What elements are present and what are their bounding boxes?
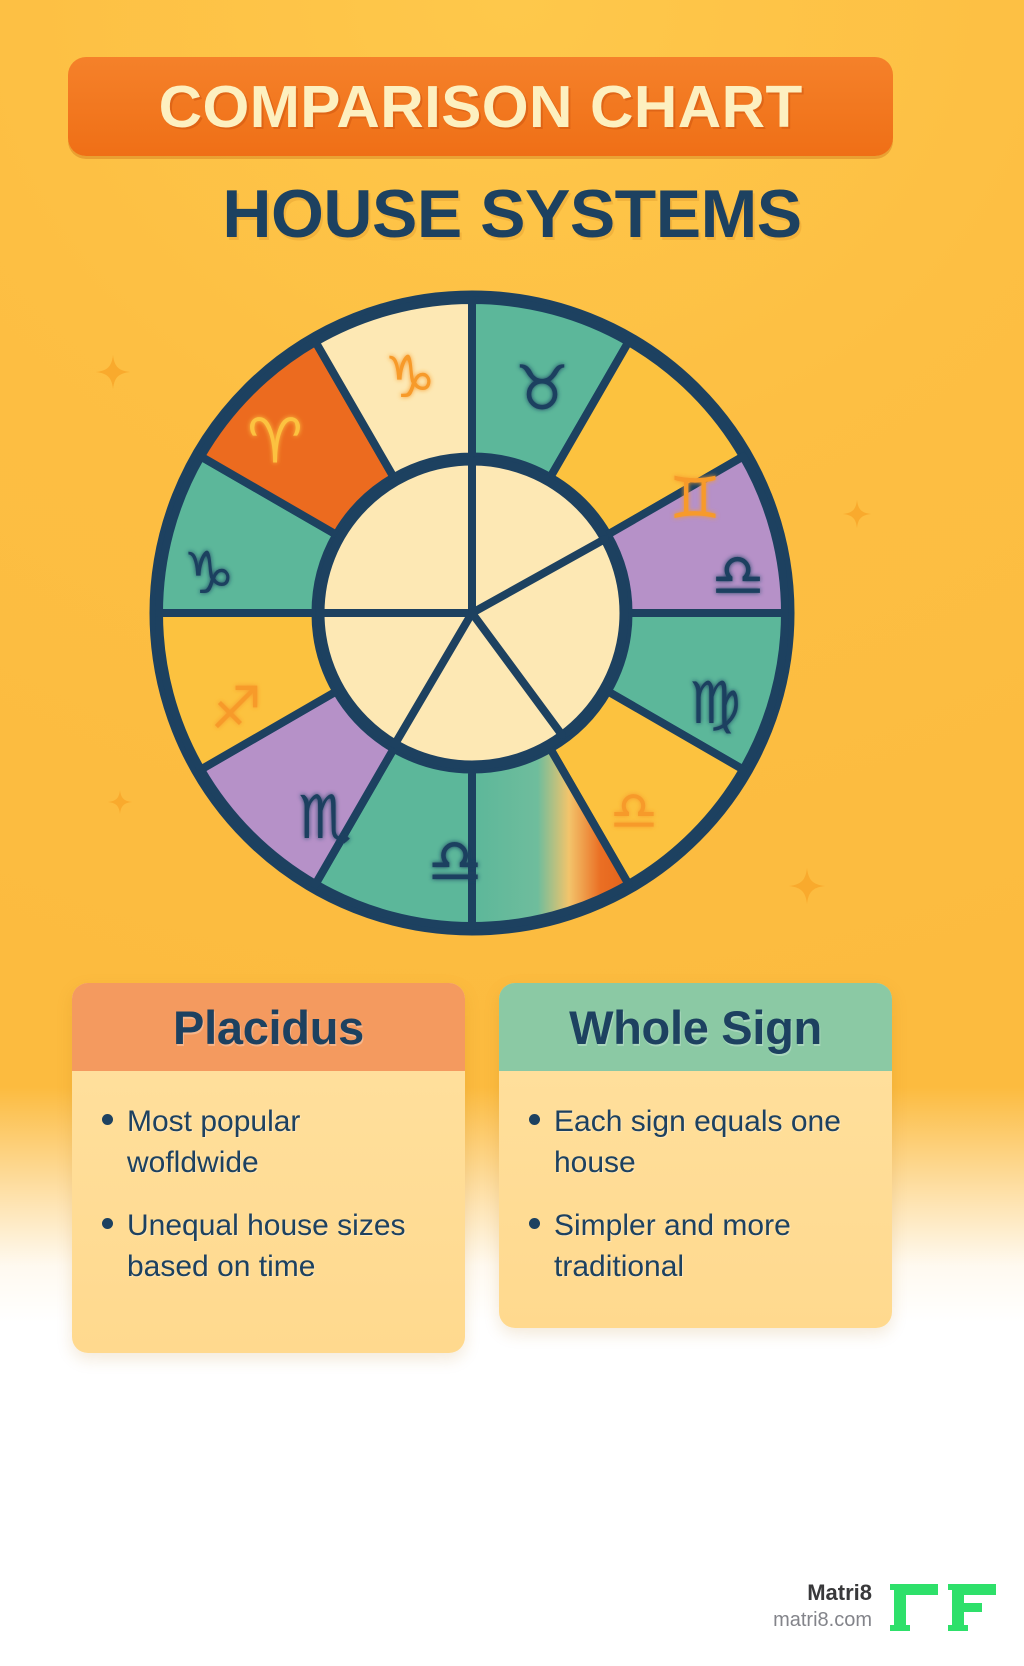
glyph-gemini: ♊ xyxy=(669,464,721,532)
bullet-dot-icon xyxy=(529,1218,540,1229)
list-item: Unequal house sizes based on time xyxy=(102,1205,439,1287)
card-whole-sign-bullet-2: Simpler and more traditional xyxy=(554,1205,866,1287)
sparkle-left-upper-icon xyxy=(96,355,130,389)
footer-branding: Matri8 matri8.com xyxy=(773,1576,1006,1638)
card-whole-sign: Whole Sign Each sign equals one house Si… xyxy=(499,983,892,1328)
card-placidus-bullet-2: Unequal house sizes based on time xyxy=(127,1205,439,1287)
card-placidus-bullet-1: Most popular wofldwide xyxy=(127,1101,439,1183)
list-item: Each sign equals one house xyxy=(529,1101,866,1183)
bullet-dot-icon xyxy=(102,1218,113,1229)
ribbon-label: COMPARISON CHART xyxy=(158,73,802,141)
glyph-libra-gradient: ♎ xyxy=(427,825,483,898)
glyph-capricorn-cream: ♑ xyxy=(384,343,436,411)
comparison-chart-ribbon: COMPARISON CHART xyxy=(68,57,893,156)
card-placidus-body: Most popular wofldwide Unequal house siz… xyxy=(72,1071,465,1319)
card-placidus-header: Placidus xyxy=(72,983,465,1071)
list-item: Simpler and more traditional xyxy=(529,1205,866,1287)
glyph-virgo: ♍ xyxy=(689,669,741,737)
list-item: Most popular wofldwide xyxy=(102,1101,439,1183)
glyph-aries: ♈ xyxy=(247,405,303,478)
comparison-cards: Placidus Most popular wofldwide Unequal … xyxy=(0,983,1024,1363)
zodiac-wheel: ♉ ♊ ♎ ♍ ♎ ♎ ♏ ♐ ♑ ♈ ♑ xyxy=(142,283,802,943)
sparkle-left-lower-icon xyxy=(108,790,132,814)
glyph-libra-purple: ♎ xyxy=(711,541,765,611)
card-whole-sign-title: Whole Sign xyxy=(569,1000,822,1055)
card-whole-sign-body: Each sign equals one house Simpler and m… xyxy=(499,1071,892,1319)
matri8-logo-icon xyxy=(888,1576,1006,1638)
poster-canvas: COMPARISON CHART HOUSE SYSTEMS xyxy=(0,0,1024,1490)
brand-name: Matri8 xyxy=(773,1581,872,1605)
bullet-dot-icon xyxy=(102,1114,113,1125)
glyph-capricorn-teal: ♑ xyxy=(183,539,235,607)
card-whole-sign-header: Whole Sign xyxy=(499,983,892,1071)
bullet-dot-icon xyxy=(529,1114,540,1125)
sparkle-right-upper-icon xyxy=(843,500,871,528)
glyph-sagittarius: ♐ xyxy=(210,674,262,742)
card-placidus-title: Placidus xyxy=(173,1000,364,1055)
card-placidus: Placidus Most popular wofldwide Unequal … xyxy=(72,983,465,1353)
card-whole-sign-bullet-1: Each sign equals one house xyxy=(554,1101,866,1183)
footer-text-block: Matri8 matri8.com xyxy=(773,1581,872,1632)
glyph-taurus: ♉ xyxy=(514,352,570,425)
brand-url: matri8.com xyxy=(773,1608,872,1633)
page-title: HOUSE SYSTEMS xyxy=(0,175,1024,253)
glyph-libra-yellow: ♎ xyxy=(610,780,658,843)
glyph-scorpio: ♏ xyxy=(298,783,352,853)
